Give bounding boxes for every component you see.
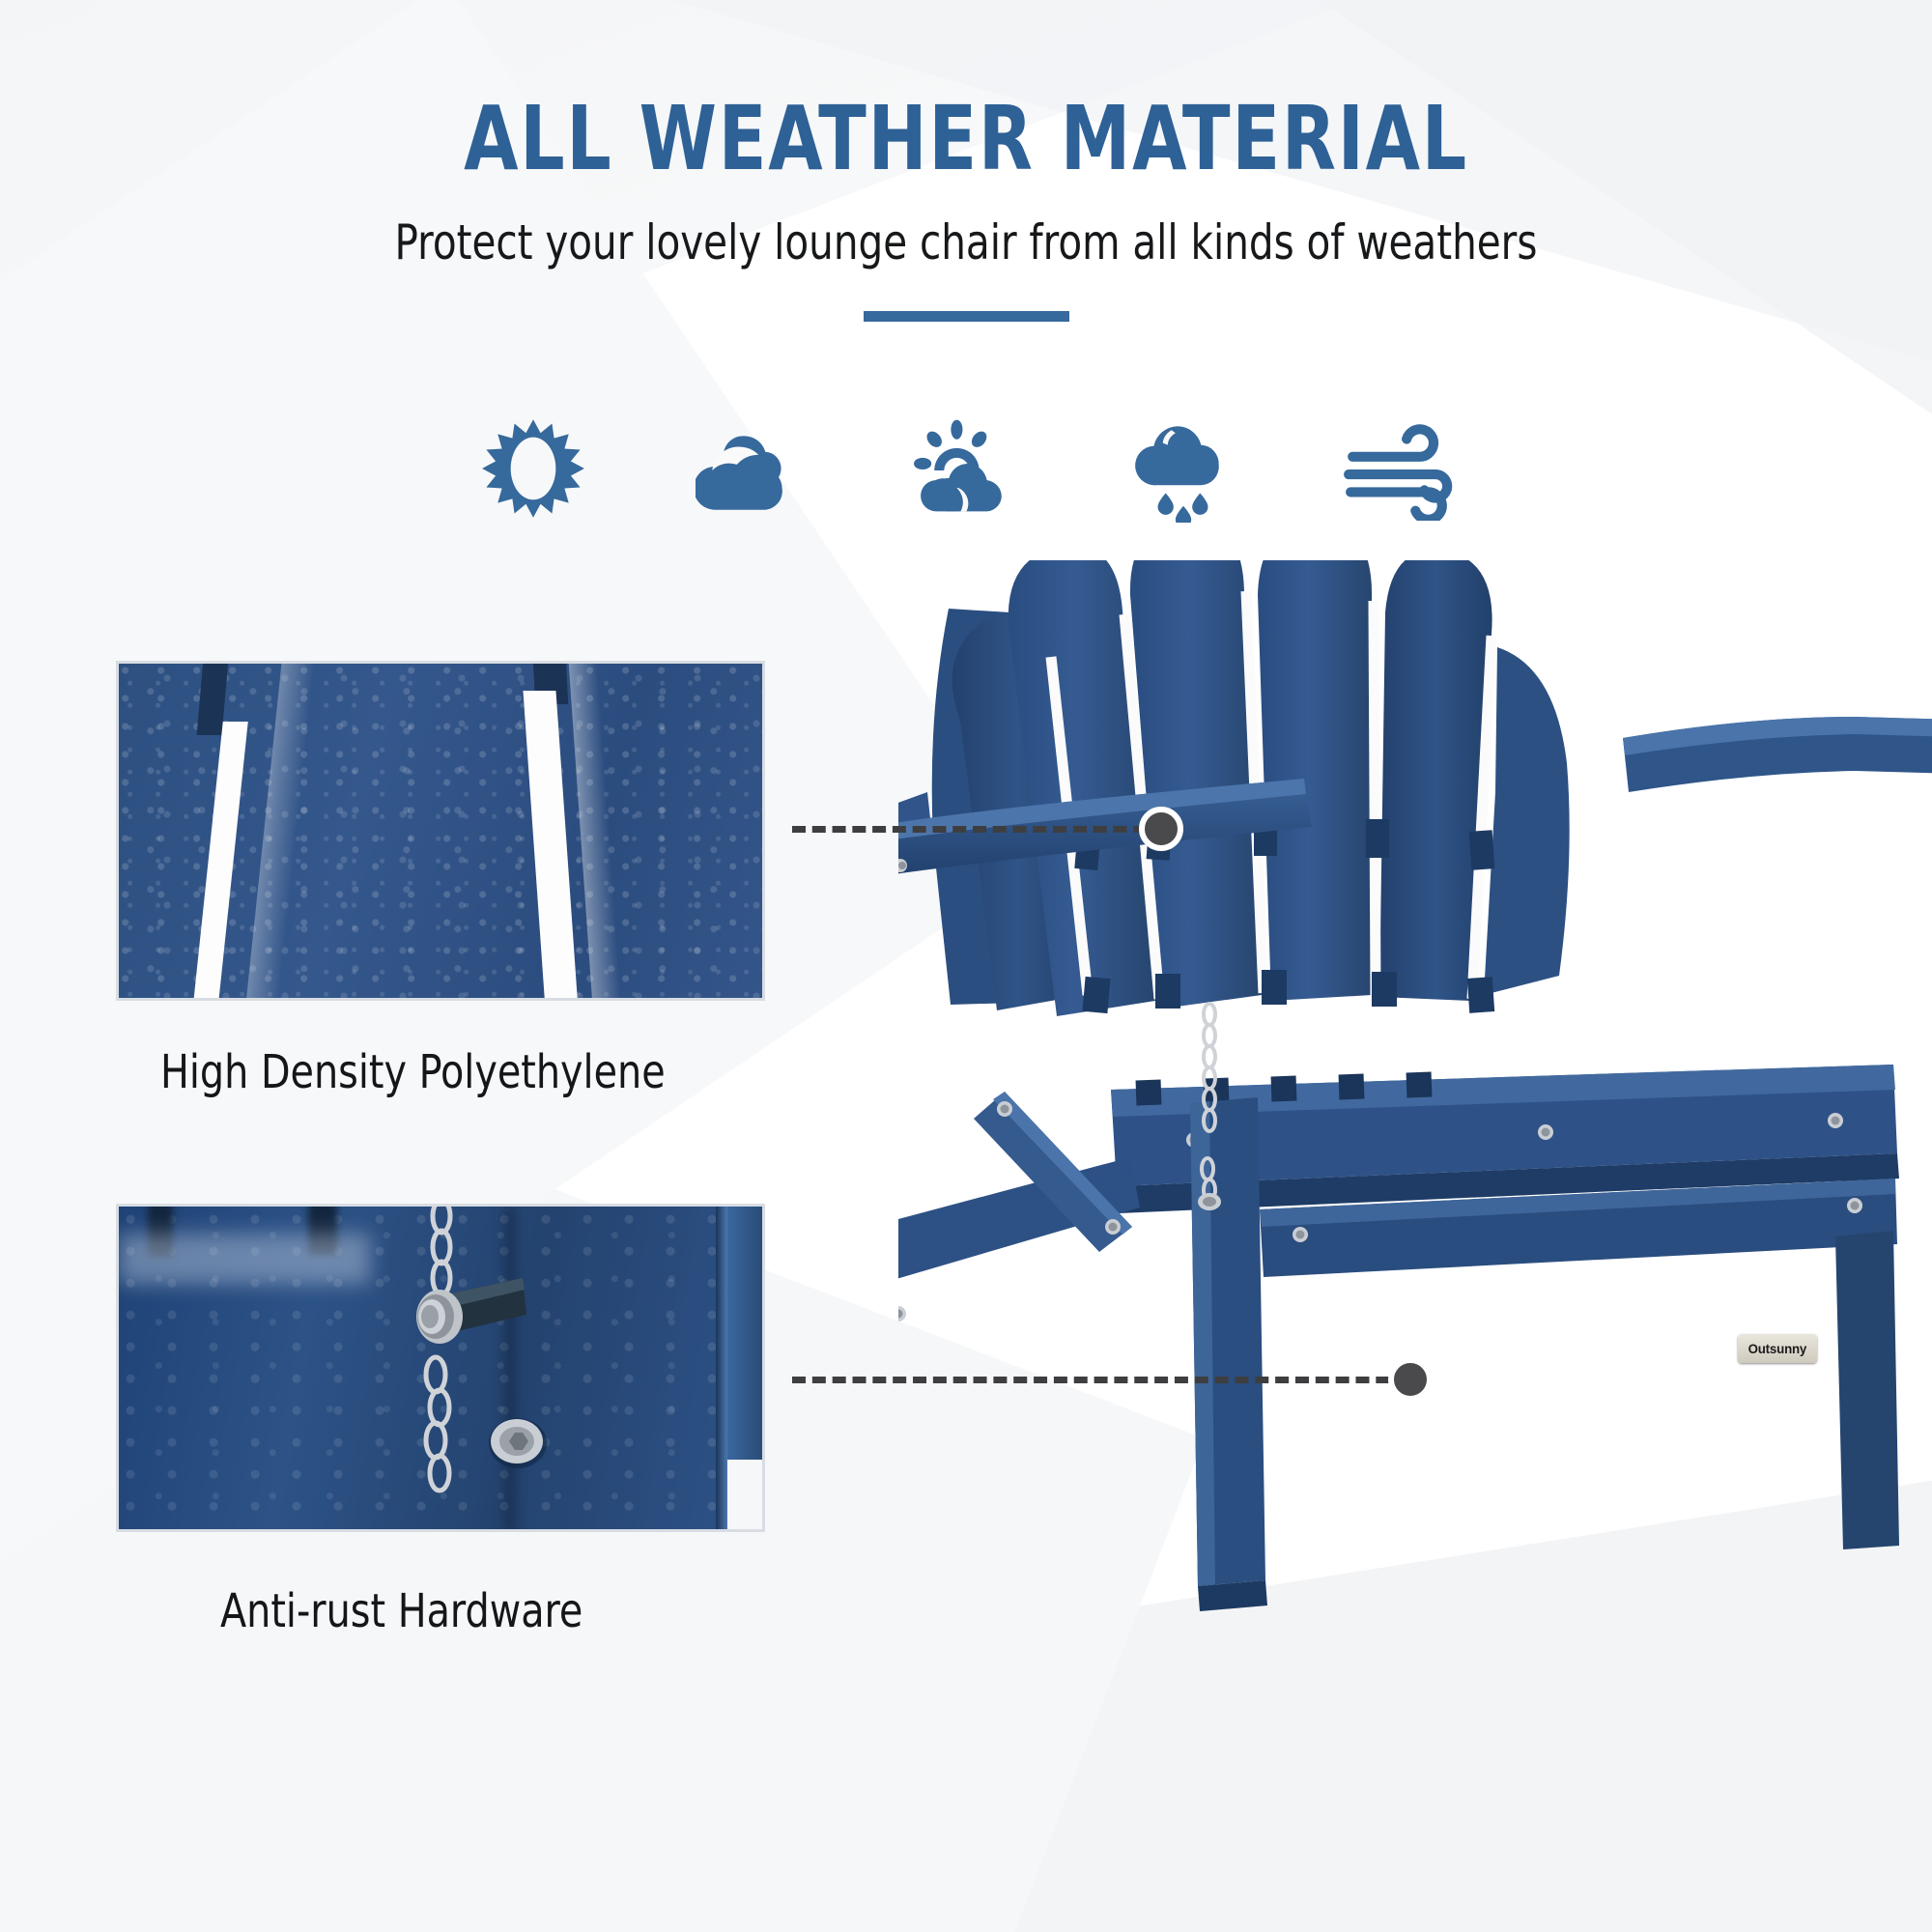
wind-icon: [1341, 415, 1457, 522]
photo-highlight: [119, 1234, 370, 1284]
post-edge: [716, 1207, 727, 1532]
hardware-closeup-photo: [116, 1204, 765, 1532]
product-image-adirondack-chair: [898, 560, 1932, 1835]
callout-line-hardware: [792, 1377, 1430, 1383]
callout-dot-hdpe: [1139, 807, 1183, 851]
weather-icon-row: [0, 415, 1932, 522]
brand-badge-label: Outsunny: [1748, 1341, 1807, 1356]
feature-card-hardware: Anti-rust Hardware: [116, 1204, 765, 1634]
page-subtitle: Protect your lovely lounge chair from al…: [97, 218, 1835, 267]
feature-card-hdpe: High Density Polyethylene: [116, 661, 765, 1095]
hdpe-closeup-photo: [116, 661, 765, 1001]
cloudy-icon: [692, 415, 808, 522]
sun-icon: [475, 415, 591, 522]
callout-dot-hardware: [1388, 1357, 1433, 1402]
photo-gap: [727, 1460, 765, 1532]
feature-caption-hdpe: High Density Polyethylene: [160, 1049, 717, 1095]
rain-icon: [1124, 415, 1240, 522]
brand-badge: Outsunny: [1738, 1334, 1817, 1363]
header-block: ALL WEATHER MATERIAL Protect your lovely…: [0, 0, 1932, 322]
title-divider: [864, 311, 1069, 322]
callout-line-hdpe: [792, 826, 1167, 833]
feature-caption-hardware: Anti-rust Hardware: [220, 1588, 722, 1634]
page-title: ALL WEATHER MATERIAL: [116, 95, 1816, 184]
partly-sunny-icon: [908, 415, 1024, 522]
